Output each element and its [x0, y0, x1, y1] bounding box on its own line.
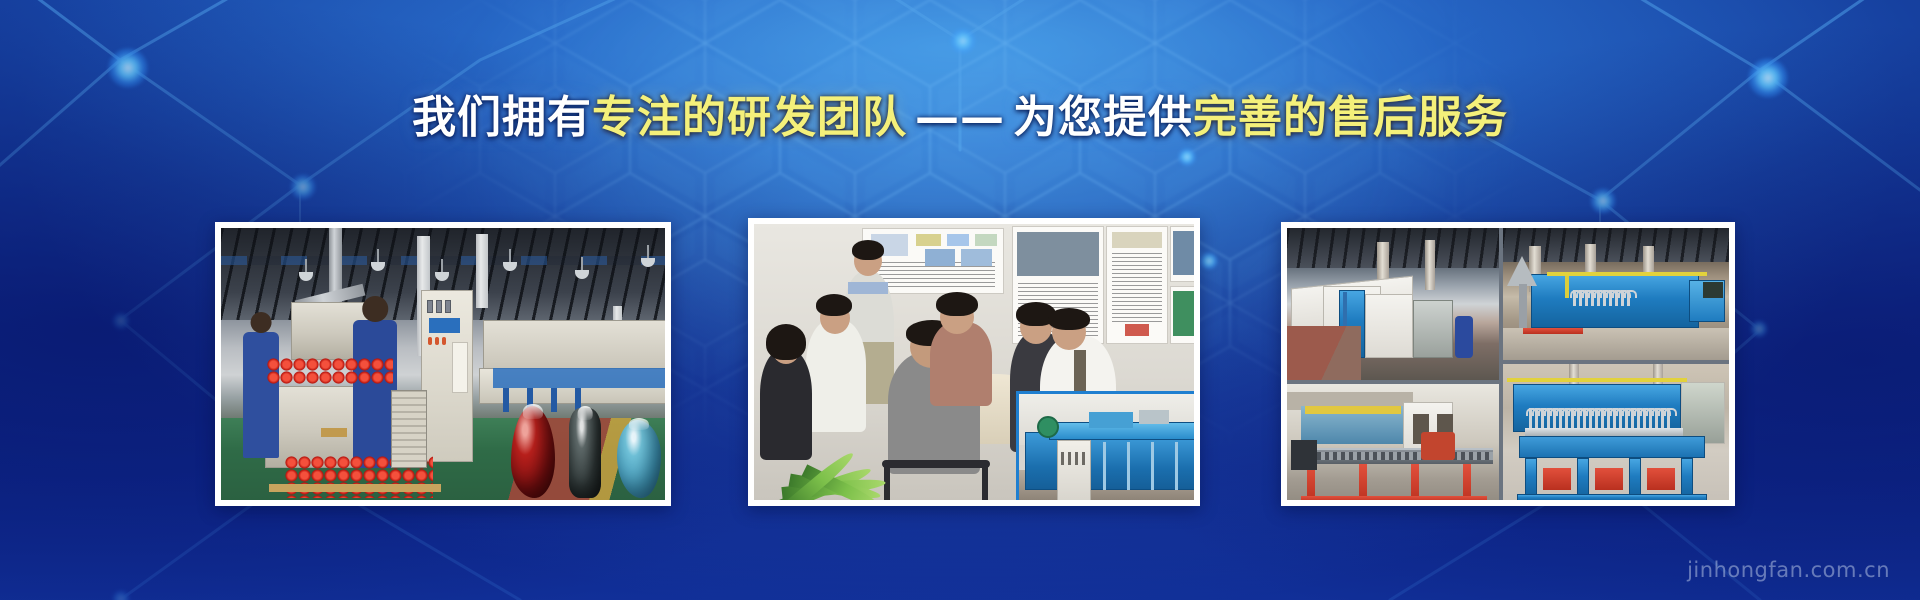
headline: 我们拥有专注的研发团队——为您提供完善的售后服务: [0, 96, 1920, 140]
equipment-collage-photo-image: [1287, 228, 1729, 500]
equipment-collage-photo[interactable]: [1281, 222, 1735, 506]
headline-segment-1: 我们拥有: [412, 92, 592, 143]
production-line-photo-image: [221, 228, 665, 500]
machine-inset-photo: [1016, 391, 1194, 500]
customer-meeting-photo-image: [754, 224, 1194, 500]
headline-dash: ——: [907, 96, 1013, 140]
production-line-photo[interactable]: [215, 222, 671, 506]
customer-meeting-photo[interactable]: [748, 218, 1200, 506]
watermark: jinhongfan.com.cn: [1687, 558, 1890, 582]
headline-segment-2: 专注的研发团队: [592, 92, 907, 143]
headline-segment-3: 为您提供: [1013, 92, 1193, 143]
banner-stage: 我们拥有专注的研发团队——为您提供完善的售后服务: [0, 0, 1920, 600]
headline-segment-4: 完善的售后服务: [1193, 92, 1508, 143]
